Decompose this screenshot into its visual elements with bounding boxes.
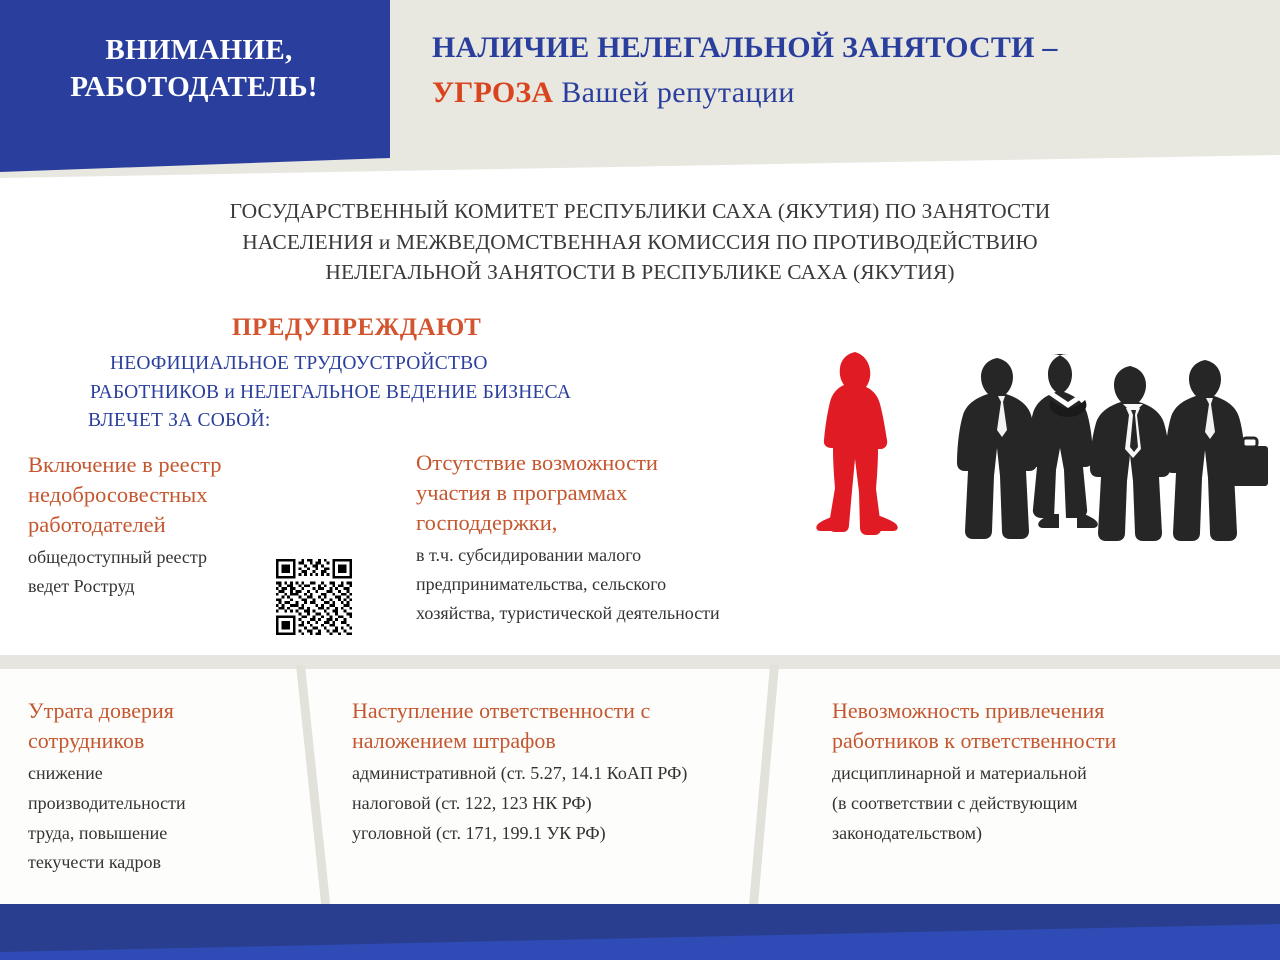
card-state-support-title-line-3: господдержки,: [416, 508, 856, 538]
card-worker-liability-body-line-1: дисциплинарной и материальной: [832, 759, 1252, 789]
card-fines-liability-title-line-1: Наступление ответственности с: [352, 696, 802, 726]
title-line-1: НАЛИЧИЕ НЕЛЕГАЛЬНОЙ ЗАНЯТОСТИ –: [432, 28, 1252, 68]
card-state-support-body-line-2: предпринимательства, сельского: [416, 570, 856, 599]
card-employee-trust-body-line-4: текучести кадров: [28, 848, 298, 878]
card-employee-trust-body-line-1: снижение: [28, 759, 298, 789]
card-worker-liability-title-line-1: Невозможность привлечения: [832, 696, 1252, 726]
card-worker-liability: Невозможность привлечения работников к о…: [832, 696, 1252, 848]
card-employee-trust-title-line-1: Утрата доверия: [28, 696, 298, 726]
rostrud-registry-qr-code[interactable]: [273, 556, 355, 638]
card-employee-trust-body-line-2: производительности: [28, 789, 298, 819]
organization-line-2: НАСЕЛЕНИЯ и МЕЖВЕДОМСТВЕННАЯ КОМИССИЯ ПО…: [0, 227, 1280, 258]
card-employee-trust-body-line-3: труда, повышение: [28, 819, 298, 849]
card-registry-title: Включение в реестр недобросовестных рабо…: [28, 450, 328, 540]
organization-line-3: НЕЛЕГАЛЬНОЙ ЗАНЯТОСТИ В РЕСПУБЛИКЕ САХА …: [0, 257, 1280, 288]
card-worker-liability-body-line-3: законодательством): [832, 819, 1252, 849]
card-fines-liability-title-line-2: наложением штрафов: [352, 726, 802, 756]
card-state-support-title-line-1: Отсутствие возможности: [416, 448, 856, 478]
warning-line-2: РАБОТНИКОВ и НЕЛЕГАЛЬНОЕ ВЕДЕНИЕ БИЗНЕСА: [88, 379, 571, 408]
card-registry-title-line-2: недобросовестных: [28, 480, 328, 510]
card-fines-liability: Наступление ответственности с наложением…: [352, 696, 802, 848]
warning-line-3: ВЛЕЧЕТ ЗА СОБОЙ:: [88, 407, 571, 436]
card-fines-administrative: административной (ст. 5.27, 14.1 КоАП РФ…: [352, 759, 802, 789]
title-accent-word: УГРОЗА: [432, 76, 553, 109]
card-worker-liability-body-line-2: (в соответствии с действующим: [832, 789, 1252, 819]
business-people-silhouettes: [800, 338, 1270, 558]
card-fines-liability-title: Наступление ответственности с наложением…: [352, 696, 802, 756]
title-line-2: УГРОЗА Вашей репутации: [432, 73, 1252, 113]
group-silhouettes: [957, 354, 1268, 541]
card-fines-tax: налоговой (ст. 122, 123 НК РФ): [352, 789, 802, 819]
warning-line-1: НЕОФИЦИАЛЬНОЕ ТРУДОУСТРОЙСТВО: [88, 350, 571, 379]
attention-line-2: РАБОТОДАТЕЛЬ!: [0, 69, 388, 106]
card-state-support: Отсутствие возможности участия в програм…: [416, 448, 856, 628]
poster-root: ВНИМАНИЕ, РАБОТОДАТЕЛЬ! НАЛИЧИЕ НЕЛЕГАЛЬ…: [0, 0, 1280, 960]
card-state-support-body: в т.ч. субсидировании малого предпринима…: [416, 541, 856, 628]
card-registry-title-line-1: Включение в реестр: [28, 450, 328, 480]
card-state-support-body-line-3: хозяйства, туристической деятельности: [416, 599, 856, 628]
card-employee-trust-body: снижение производительности труда, повыш…: [28, 759, 298, 879]
card-fines-criminal: уголовной (ст. 171, 199.1 УК РФ): [352, 819, 802, 849]
card-worker-liability-title: Невозможность привлечения работников к о…: [832, 696, 1252, 756]
lower-section-divider-band: [0, 655, 1280, 669]
attention-banner: ВНИМАНИЕ, РАБОТОДАТЕЛЬ!: [0, 32, 388, 106]
attention-line-1: ВНИМАНИЕ,: [0, 32, 388, 69]
warning-body: НЕОФИЦИАЛЬНОЕ ТРУДОУСТРОЙСТВО РАБОТНИКОВ…: [88, 350, 571, 436]
organization-line-1: ГОСУДАРСТВЕННЫЙ КОМИТЕТ РЕСПУБЛИКИ САХА …: [0, 196, 1280, 227]
title-line-2-rest: Вашей репутации: [553, 76, 795, 109]
warning-heading: ПРЕДУПРЕЖДАЮТ: [232, 314, 481, 342]
card-employee-trust-title: Утрата доверия сотрудников: [28, 696, 298, 756]
card-employee-trust: Утрата доверия сотрудников снижение прои…: [28, 696, 298, 878]
organization-block: ГОСУДАРСТВЕННЫЙ КОМИТЕТ РЕСПУБЛИКИ САХА …: [0, 196, 1280, 288]
card-worker-liability-title-line-2: работников к ответственности: [832, 726, 1252, 756]
card-fines-liability-body: административной (ст. 5.27, 14.1 КоАП РФ…: [352, 759, 802, 849]
page-title: НАЛИЧИЕ НЕЛЕГАЛЬНОЙ ЗАНЯТОСТИ – УГРОЗА В…: [432, 28, 1252, 112]
card-state-support-body-line-1: в т.ч. субсидировании малого: [416, 541, 856, 570]
card-employee-trust-title-line-2: сотрудников: [28, 726, 298, 756]
card-registry-title-line-3: работодателей: [28, 510, 328, 540]
card-state-support-title-line-2: участия в программах: [416, 478, 856, 508]
card-state-support-title: Отсутствие возможности участия в програм…: [416, 448, 856, 538]
card-worker-liability-body: дисциплинарной и материальной (в соответ…: [832, 759, 1252, 849]
